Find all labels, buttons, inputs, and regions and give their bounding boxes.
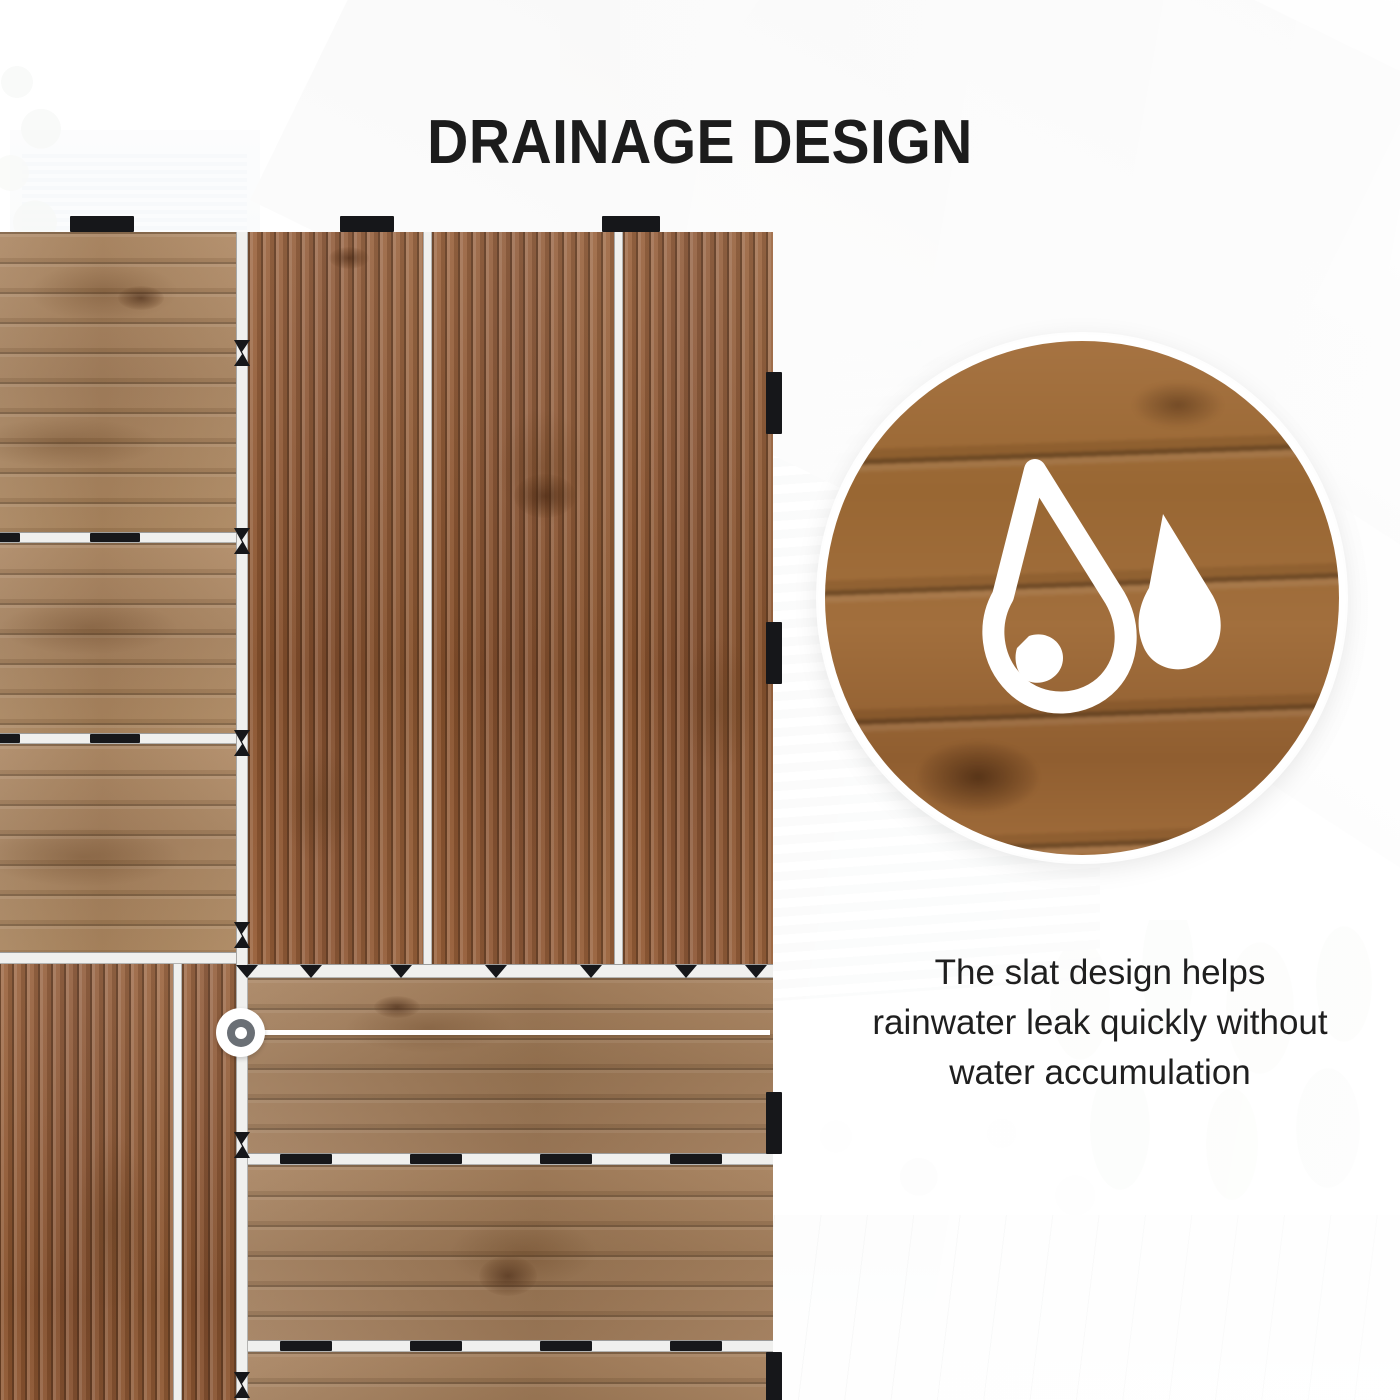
connector-clip-row (0, 734, 20, 743)
callout-leader-line (250, 1030, 770, 1035)
tile-vertical-top-2 (432, 232, 614, 964)
connector-clip-row (540, 1341, 592, 1351)
tile-gap-column (173, 964, 182, 1400)
connector-clip-seam (390, 965, 412, 978)
connector-clip-seam (485, 965, 507, 978)
tile-horizontal-lower-left (0, 744, 236, 952)
connector-clip-row (670, 1341, 722, 1351)
tile-gap-column (614, 232, 623, 964)
drainage-gap-marker (216, 1008, 265, 1057)
connector-clip-seam (300, 965, 322, 978)
tile-horizontal-top-left (0, 232, 236, 532)
connector-clip-seam (675, 965, 697, 978)
connector-clip-right (766, 1352, 782, 1400)
water-drop-icon (917, 448, 1247, 748)
callout-caption: The slat design helps rainwater leak qui… (840, 948, 1360, 1098)
caption-line-1: The slat design helps (840, 948, 1360, 998)
page-title: DRAINAGE DESIGN (56, 107, 1344, 178)
connector-clip-row (540, 1154, 592, 1164)
connector-clip-right (766, 622, 782, 684)
connector-clip-right (766, 372, 782, 434)
connector-clip-row (0, 533, 20, 542)
tile-vertical-top-3 (623, 232, 773, 964)
callout-wood-grain (1133, 382, 1223, 428)
connector-clip-row (410, 1154, 462, 1164)
tile-horizontal-bottom-1 (248, 978, 773, 1153)
tile-vertical-bottom-2 (0, 964, 173, 1400)
connector-clip-row (280, 1154, 332, 1164)
deck-tile-assembly (0, 232, 775, 1322)
tile-horizontal-bottom-2 (248, 1165, 773, 1340)
product-feature-image: DRAINAGE DESIGN (0, 0, 1400, 1400)
connector-clip-top (70, 216, 134, 232)
marker-dot (235, 1027, 247, 1039)
connector-clip-row (410, 1341, 462, 1351)
connector-clip-seam (580, 965, 602, 978)
tile-gap-row (0, 952, 236, 964)
callout-wood-knot (918, 742, 1038, 812)
marker-ring (227, 1019, 255, 1047)
caption-line-2: rainwater leak quickly without (840, 998, 1360, 1048)
connector-clip-top (340, 216, 394, 232)
tile-horizontal-bottom-3 (248, 1352, 773, 1400)
tile-horizontal-mid-left (0, 543, 236, 733)
caption-line-3: water accumulation (840, 1048, 1360, 1098)
tile-gap-column (423, 232, 432, 964)
connector-clip-seam (236, 965, 258, 978)
zoom-callout-circle (818, 334, 1346, 862)
tile-vertical-top-1 (248, 232, 423, 964)
connector-clip-seam (745, 965, 767, 978)
connector-clip-row (90, 734, 140, 743)
connector-clip-top (602, 216, 660, 232)
connector-clip-row (280, 1341, 332, 1351)
connector-clip-row (90, 533, 140, 542)
connector-clip-right (766, 1092, 782, 1154)
connector-clip-row (670, 1154, 722, 1164)
